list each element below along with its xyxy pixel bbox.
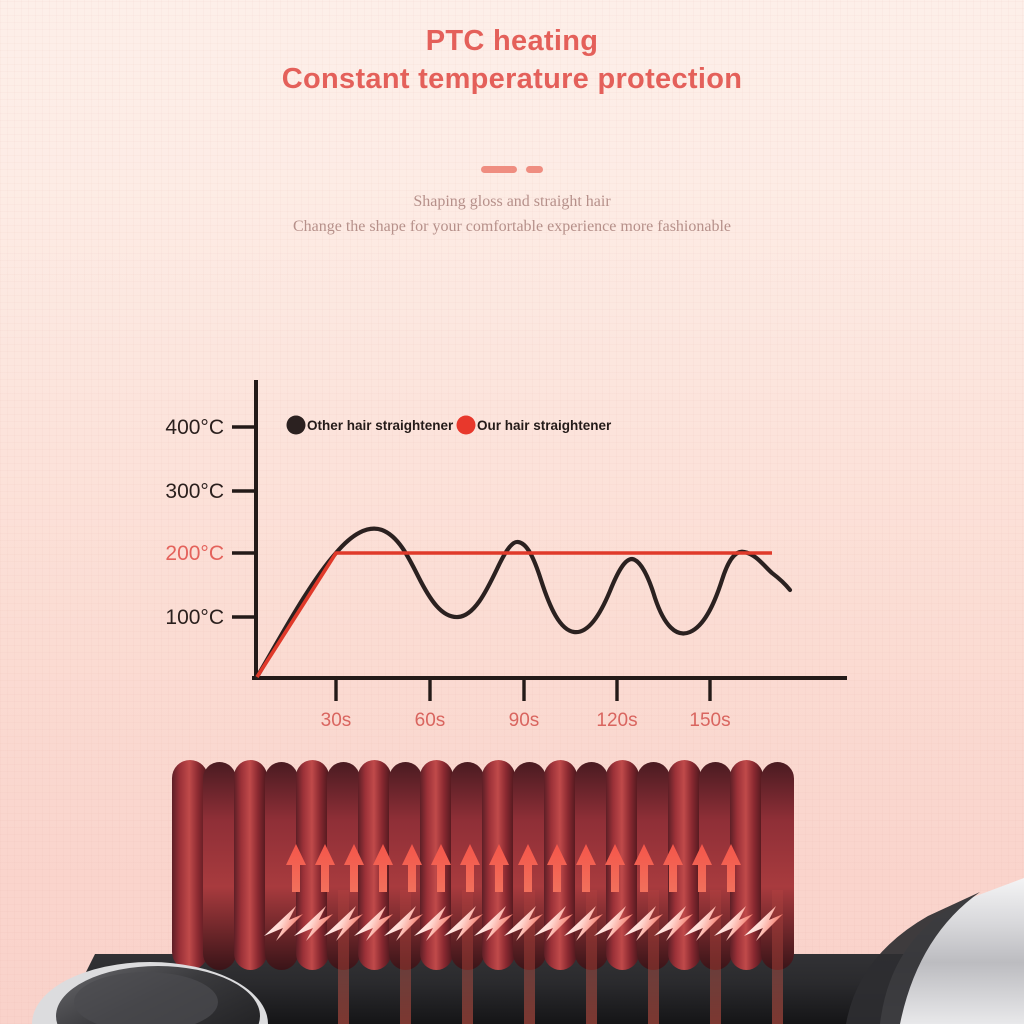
heat-glow (586, 890, 597, 1024)
x-axis-label-90s: 90s (509, 710, 540, 731)
legend-swatch-ours-icon (457, 416, 476, 435)
legend-swatch-other-icon (287, 416, 306, 435)
y-axis-label-200: 200°C (165, 542, 224, 565)
y-axis-label-300: 300°C (165, 480, 224, 503)
chart-svg: 400°C 300°C 200°C 100°C 30s 60s 90s 120s… (0, 370, 1024, 750)
heat-glow (462, 890, 473, 1024)
page-title-line2: Constant temperature protection (0, 60, 1024, 98)
legend-label-ours: Our hair straightener (477, 418, 612, 433)
temperature-chart: 400°C 300°C 200°C 100°C 30s 60s 90s 120s… (0, 370, 1024, 750)
chart-legend: Other hair straightener Our hair straigh… (287, 416, 613, 435)
divider-dash-short (526, 166, 543, 173)
heat-glow (400, 890, 411, 1024)
subtitle-line1: Shaping gloss and straight hair (0, 190, 1024, 215)
comb-tooth (203, 762, 236, 970)
decorative-divider (0, 163, 1024, 175)
x-axis-label-150s: 150s (689, 710, 730, 731)
subtitle-line2: Change the shape for your comfortable ex… (0, 215, 1024, 240)
straightener-handle (846, 878, 1024, 1024)
page-title-line1: PTC heating (0, 22, 1024, 60)
divider-dash-long (481, 166, 517, 173)
x-axis-label-30s: 30s (321, 710, 352, 731)
series-other-hair-straightener (257, 529, 790, 677)
x-axis-label-120s: 120s (596, 710, 637, 731)
comb-tooth (234, 760, 267, 970)
y-axis-label-400: 400°C (165, 416, 224, 439)
product-illustration (0, 740, 1024, 1024)
header-block: PTC heating Constant temperature protect… (0, 22, 1024, 99)
y-axis-label-100: 100°C (165, 606, 224, 629)
subtitle-block: Shaping gloss and straight hair Change t… (0, 190, 1024, 240)
product-svg (0, 740, 1024, 1024)
series-our-hair-straightener (257, 553, 772, 677)
comb-tooth (172, 760, 208, 970)
legend-label-other: Other hair straightener (307, 418, 454, 433)
x-axis-label-60s: 60s (415, 710, 446, 731)
product-infographic-page: PTC heating Constant temperature protect… (0, 0, 1024, 1024)
heat-glow (338, 890, 349, 1024)
